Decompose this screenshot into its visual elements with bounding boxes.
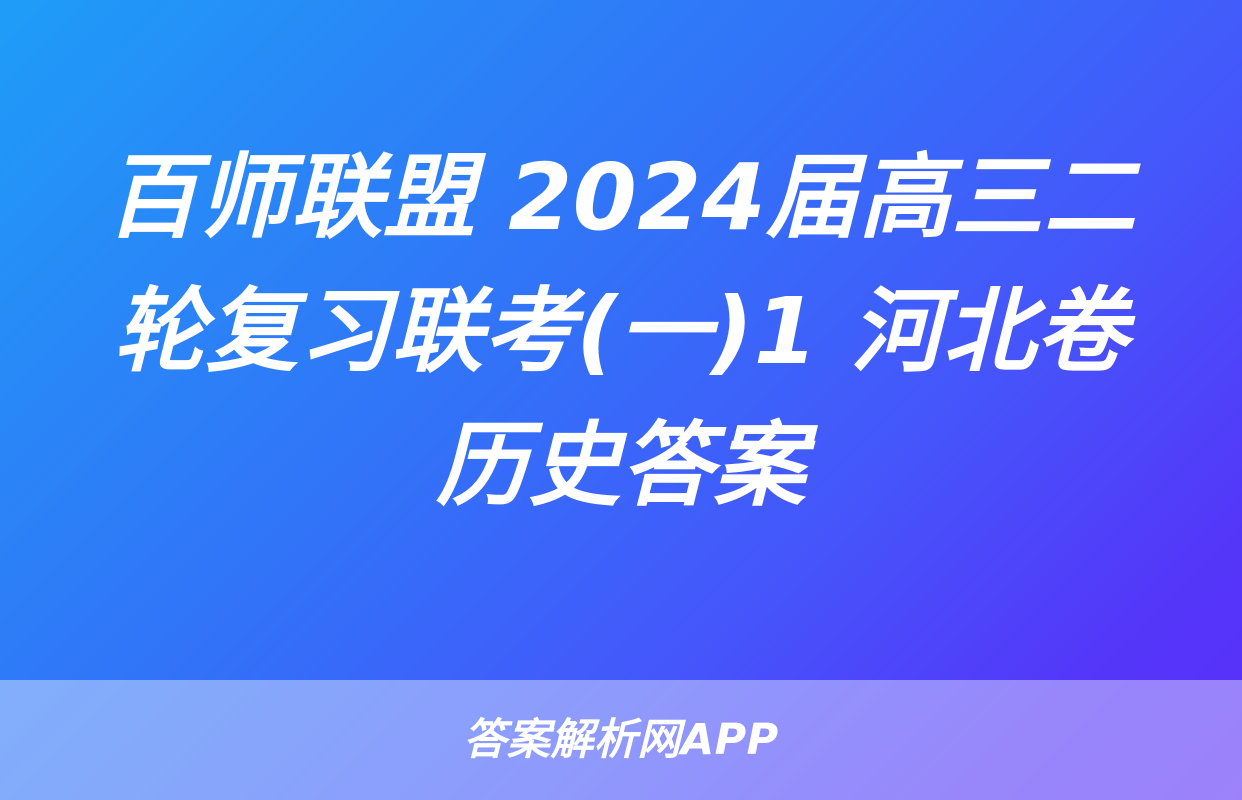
- app-promo-banner[interactable]: 答案解析网APP: [0, 680, 1242, 800]
- app-promo-label: 答案解析网APP: [463, 719, 778, 762]
- title-line-2: 轮复习联考(一)1 河北卷: [52, 265, 1190, 399]
- poster-canvas: 百师联盟 2024届高三二 轮复习联考(一)1 河北卷 历史答案 答案解析网AP…: [0, 0, 1242, 800]
- title-line-1: 百师联盟 2024届高三二: [52, 131, 1190, 265]
- title-block: 百师联盟 2024届高三二 轮复习联考(一)1 河北卷 历史答案: [0, 0, 1242, 680]
- title-line-3: 历史答案: [52, 399, 1190, 533]
